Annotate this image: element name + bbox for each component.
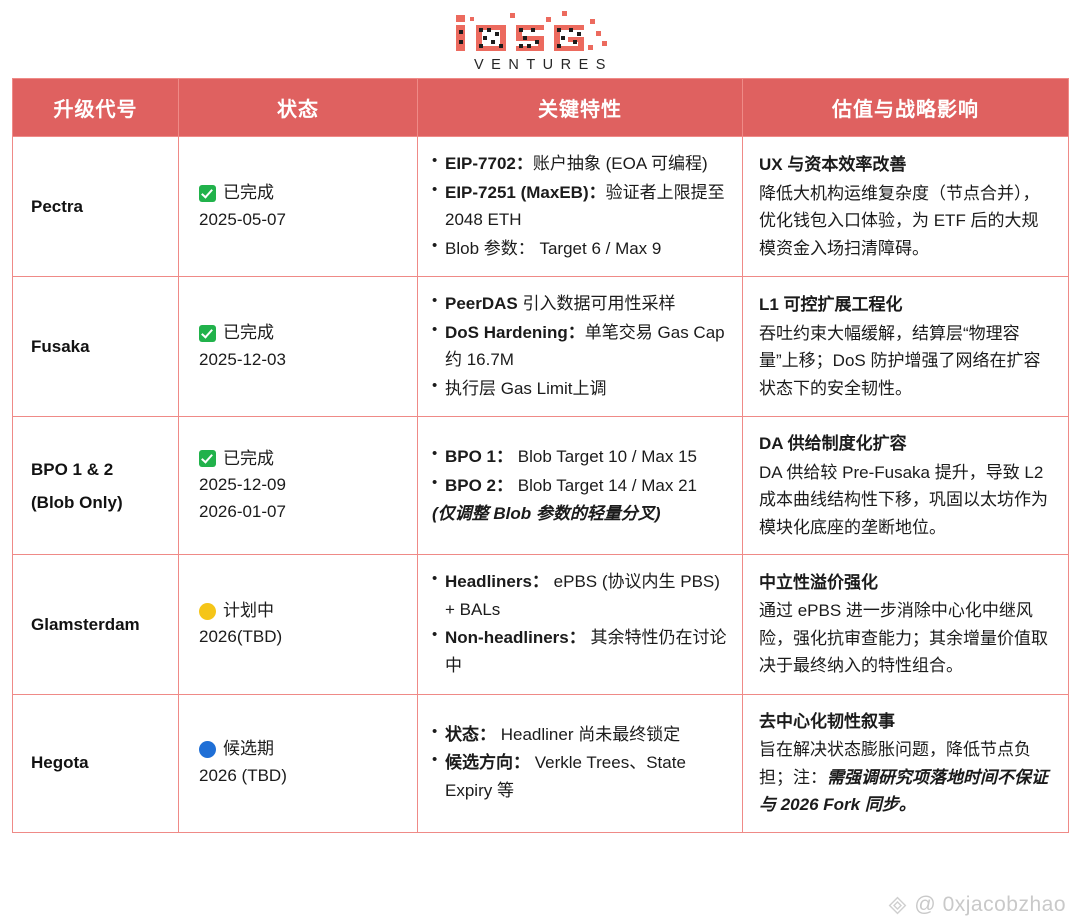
impact-body: DA 供给较 Pre-Fusaka 提升，导致 L2 成本曲线结构性下移，巩固以… [759,459,1054,542]
upgrade-name: Fusaka [31,330,164,363]
cell-key-features: BPO 1： Blob Target 10 / Max 15BPO 2： Blo… [418,417,743,555]
feature-item: EIP-7702：账户抽象 (EOA 可编程) [432,150,728,178]
status-label: 候选期 [223,736,274,763]
cell-upgrade-name: Pectra [13,137,179,277]
table-header-row: 升级代号 状态 关键特性 估值与战略影响 [13,79,1069,137]
status-badge: 候选期 [199,736,403,763]
cell-impact: DA 供给制度化扩容DA 供给较 Pre-Fusaka 提升，导致 L2 成本曲… [743,417,1069,555]
feature-item: EIP-7251 (MaxEB)：验证者上限提至 2048 ETH [432,179,728,234]
status-date: 2025-12-09 [199,472,403,499]
iosg-logo-icon [450,11,630,55]
cell-upgrade-name: Glamsterdam [13,555,179,694]
feature-label: EIP-7702： [445,154,533,173]
impact-body: 降低大机构运维复杂度（节点合并），优化钱包入口体验，为 ETF 后的大规模资金入… [759,180,1054,263]
upgrade-name: Glamsterdam [31,608,164,641]
upgrade-name: BPO 1 & 2 [31,453,164,486]
status-badge: 已完成 [199,320,403,347]
feature-label: DoS Hardening： [445,323,585,342]
feature-list: Headliners： ePBS (协议内生 PBS) + BALsNon-he… [432,568,728,679]
cell-status: 已完成2025-05-07 [179,137,418,277]
cell-upgrade-name: BPO 1 & 2(Blob Only) [13,417,179,555]
feature-list: 状态： Headliner 尚未最终锁定候选方向： Verkle Trees、S… [432,721,728,805]
status-badge: 已完成 [199,446,403,473]
table-body: Pectra已完成2025-05-07EIP-7702：账户抽象 (EOA 可编… [13,137,1069,833]
status-label: 已完成 [223,446,274,473]
status-label: 已完成 [223,180,274,207]
upgrade-matrix-table: 升级代号 状态 关键特性 估值与战略影响 Pectra已完成2025-05-07… [12,78,1069,833]
check-square-icon [199,325,216,342]
upgrade-name: Pectra [31,190,164,223]
upgrade-name: Hegota [31,746,164,779]
feature-note: (仅调整 Blob 参数的轻量分叉) [432,500,728,528]
cell-impact: L1 可控扩展工程化吞吐约束大幅缓解，结算层“物理容量”上移；DoS 防护增强了… [743,277,1069,417]
blue-circle-icon [199,741,216,758]
cell-key-features: PeerDAS 引入数据可用性采样DoS Hardening：单笔交易 Gas … [418,277,743,417]
column-header-status: 状态 [179,79,418,137]
feature-item: 状态： Headliner 尚未最终锁定 [432,721,728,749]
status-label: 已完成 [223,320,274,347]
feature-label: 状态： [445,725,496,744]
cell-status: 候选期2026 (TBD) [179,694,418,832]
watermark-text: @ 0xjacobzhao [914,893,1066,917]
table-row: Fusaka已完成2025-12-03PeerDAS 引入数据可用性采样DoS … [13,277,1069,417]
status-date: 2026-01-07 [199,499,403,526]
feature-list: PeerDAS 引入数据可用性采样DoS Hardening：单笔交易 Gas … [432,290,728,402]
feature-item: PeerDAS 引入数据可用性采样 [432,290,728,318]
cell-key-features: EIP-7702：账户抽象 (EOA 可编程)EIP-7251 (MaxEB)：… [418,137,743,277]
feature-label: Headliners： [445,572,549,591]
watermark: @ 0xjacobzhao [887,893,1066,917]
feature-item: 执行层 Gas Limit上调 [432,375,728,403]
status-date: 2026(TBD) [199,624,403,651]
cell-upgrade-name: Hegota [13,694,179,832]
status-badge: 已完成 [199,180,403,207]
column-header-impact: 估值与战略影响 [743,79,1069,137]
check-square-icon [199,450,216,467]
status-label: 计划中 [223,598,274,625]
feature-item: Blob 参数： Target 6 / Max 9 [432,235,728,263]
feature-item: Headliners： ePBS (协议内生 PBS) + BALs [432,568,728,623]
status-date: 2026 (TBD) [199,763,403,790]
impact-title: 中立性溢价强化 [759,569,1054,597]
status-date: 2025-12-03 [199,347,403,374]
feature-item: 候选方向： Verkle Trees、State Expiry 等 [432,749,728,804]
feature-label: PeerDAS [445,294,522,313]
cell-upgrade-name: Fusaka [13,277,179,417]
column-header-upgrade-name: 升级代号 [13,79,179,137]
feature-label: Non-headliners： [445,628,586,647]
feature-list: BPO 1： Blob Target 10 / Max 15BPO 2： Blo… [432,443,728,528]
impact-body: 吞吐约束大幅缓解，结算层“物理容量”上移；DoS 防护增强了网络在扩容状态下的安… [759,320,1054,403]
feature-item: DoS Hardening：单笔交易 Gas Cap 约 16.7M [432,319,728,374]
cell-status: 已完成2025-12-03 [179,277,418,417]
cell-impact: UX 与资本效率改善降低大机构运维复杂度（节点合并），优化钱包入口体验，为 ET… [743,137,1069,277]
feature-item: BPO 2： Blob Target 14 / Max 21 [432,472,728,500]
impact-note-italic: 需强调研究项落地时间不保证与 2026 Fork 同步。 [759,768,1048,815]
feature-label: 候选方向： [445,753,530,772]
table-row: Hegota候选期2026 (TBD)状态： Headliner 尚未最终锁定候… [13,694,1069,832]
impact-body: 旨在解决状态膨胀问题，降低节点负担；注：需强调研究项落地时间不保证与 2026 … [759,736,1054,819]
brand-header: VENTURES [0,0,1080,78]
cell-status: 计划中2026(TBD) [179,555,418,694]
table-row: BPO 1 & 2(Blob Only)已完成2025-12-092026-01… [13,417,1069,555]
feature-label: BPO 2： [445,476,513,495]
check-square-icon [199,185,216,202]
table-row: Pectra已完成2025-05-07EIP-7702：账户抽象 (EOA 可编… [13,137,1069,277]
table-row: Glamsterdam计划中2026(TBD)Headliners： ePBS … [13,555,1069,694]
feature-label: EIP-7251 (MaxEB)： [445,183,606,202]
brand-subtitle: VENTURES [467,57,613,73]
feature-list: EIP-7702：账户抽象 (EOA 可编程)EIP-7251 (MaxEB)：… [432,150,728,262]
cell-key-features: Headliners： ePBS (协议内生 PBS) + BALsNon-he… [418,555,743,694]
upgrade-name-sub: (Blob Only) [31,486,164,519]
feature-item: Non-headliners： 其余特性仍在讨论中 [432,624,728,679]
diamond-icon [887,895,908,916]
yellow-circle-icon [199,603,216,620]
impact-body: 通过 ePBS 进一步消除中心化中继风险，强化抗审查能力；其余增量价值取决于最终… [759,597,1054,680]
status-date: 2025-05-07 [199,207,403,234]
impact-title: 去中心化韧性叙事 [759,708,1054,736]
feature-label: BPO 1： [445,447,513,466]
impact-title: UX 与资本效率改善 [759,151,1054,179]
cell-key-features: 状态： Headliner 尚未最终锁定候选方向： Verkle Trees、S… [418,694,743,832]
impact-title: DA 供给制度化扩容 [759,430,1054,458]
column-header-key-features: 关键特性 [418,79,743,137]
cell-impact: 中立性溢价强化通过 ePBS 进一步消除中心化中继风险，强化抗审查能力；其余增量… [743,555,1069,694]
feature-item: BPO 1： Blob Target 10 / Max 15 [432,443,728,471]
cell-impact: 去中心化韧性叙事旨在解决状态膨胀问题，降低节点负担；注：需强调研究项落地时间不保… [743,694,1069,832]
cell-status: 已完成2025-12-092026-01-07 [179,417,418,555]
impact-title: L1 可控扩展工程化 [759,291,1054,319]
status-badge: 计划中 [199,598,403,625]
